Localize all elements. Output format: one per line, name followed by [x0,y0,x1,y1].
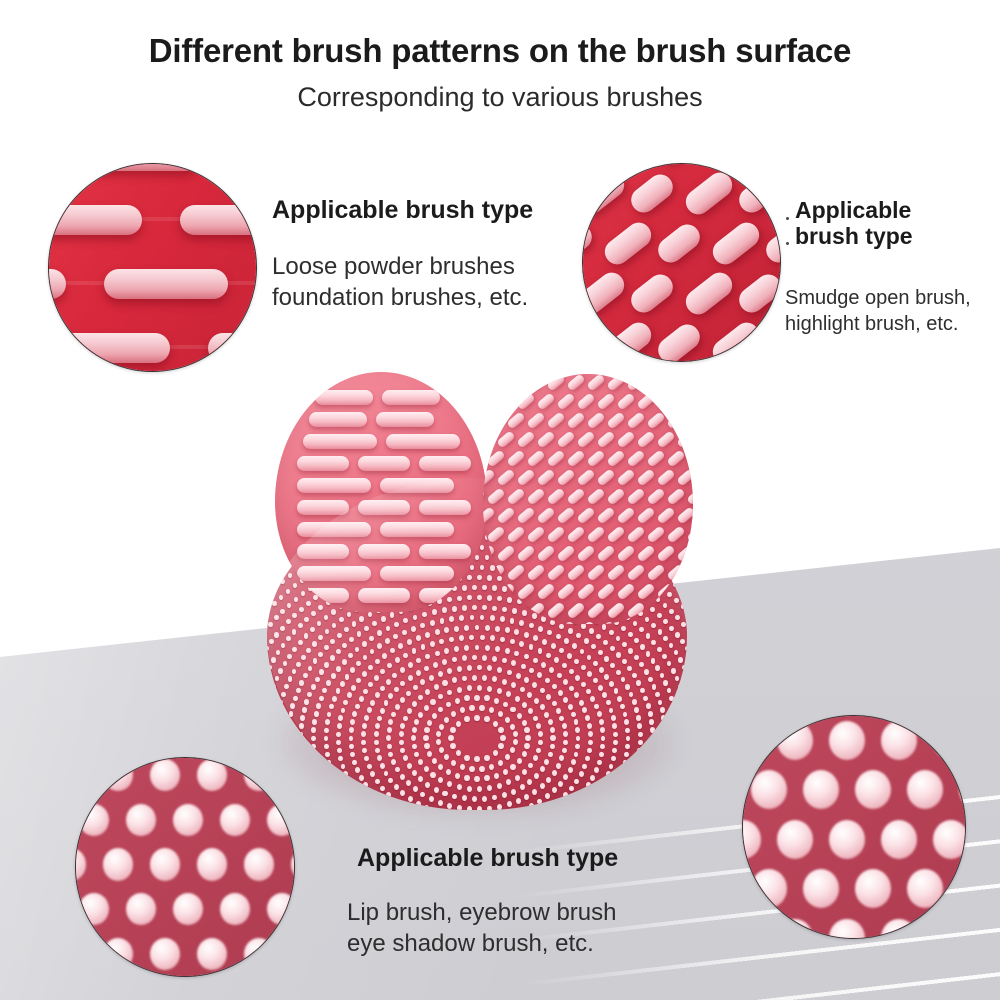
pad-dot [639,627,644,632]
pad-dot [459,615,464,621]
pad-dot [593,661,598,667]
pad-dot [337,723,342,729]
pad-dot [686,672,687,677]
pad-dot [623,760,628,766]
pad-dot [300,715,305,720]
pad-dot [646,703,651,708]
pad-dot [311,744,316,750]
pad-dot [646,633,651,638]
pad-dot [416,801,421,807]
pad-dot [652,787,657,792]
pad-dash [576,430,596,448]
pad-dot [628,648,633,653]
texture-capsule [707,317,763,362]
pad-dot [537,672,542,678]
pad-dot [524,794,529,800]
pad-dot [675,744,680,749]
pad-dot [384,700,389,706]
pad-dot [581,665,586,671]
pad-dot [511,682,516,688]
pad-dot [289,711,294,716]
pad-dot [319,776,324,782]
pad-dot [534,698,539,704]
pad-dot [368,806,373,810]
pad-dot [380,786,385,792]
pad-dot [469,766,474,772]
texture-dot [751,770,787,809]
pad-dot [380,686,385,692]
pad-dot [462,655,467,661]
pad-dash [483,468,496,486]
pad-dash [496,430,516,448]
pad-dot [489,707,494,713]
pad-dot [652,684,657,689]
texture-dot [150,759,180,791]
pad-dash [546,487,566,505]
pad-dot [621,677,626,683]
pad-dot [287,752,292,757]
pad-dot [675,752,680,757]
texture-dot [197,759,227,791]
pad-dot [648,711,653,716]
pad-dot [413,786,418,792]
pad-dot [669,626,674,631]
pad-dot [438,777,443,783]
pad-dot [528,763,533,769]
pad-dot [524,743,529,749]
pad-dash [516,392,536,410]
pad-dash [656,506,676,524]
pad-dot [340,681,345,687]
magnifier-circle-round-dots-left [75,757,295,977]
texture-dot [103,938,133,970]
pad-dot [498,760,503,766]
pad-dot [579,700,584,706]
pad-dash [616,582,636,600]
pad-dot [571,712,576,718]
pad-dot [296,662,301,667]
pad-dot [350,667,355,673]
pad-dot [599,752,604,758]
pad-dot [660,673,665,678]
pad-dot [556,763,561,769]
pad-dot [604,656,609,662]
pad-bar [419,456,471,471]
pad-dot [319,696,324,702]
texture-capsule [761,219,781,267]
pad-dot [385,638,390,644]
pad-bar [376,412,434,427]
texture-capsule [761,319,781,362]
pad-dot [550,735,555,741]
pad-dot [562,808,567,810]
pad-dot [516,798,521,804]
pad-dot [356,661,361,667]
callout-tick-icon-lower [786,242,789,245]
pad-dot [546,653,551,659]
pad-dot [540,783,545,789]
pad-dot [447,781,452,787]
texture-bar [180,205,257,235]
pad-dot [507,801,512,807]
pad-dot [403,755,408,761]
pad-dot [599,804,604,810]
pad-dot [267,665,272,670]
pad-dot [411,626,416,632]
pad-bar [297,522,371,537]
pad-dot [407,708,412,714]
pad-dot [286,744,291,749]
pad-dash [606,563,626,581]
pad-dot [482,796,487,802]
pad-dot [657,647,662,652]
pad-dash [566,411,586,429]
pad-dash [566,525,586,543]
pad-dot [311,611,316,616]
pad-dot [502,792,507,798]
pad-dot [634,638,639,643]
pad-dot [611,715,616,721]
pad-dot [311,736,316,742]
pad-dash [556,430,576,448]
pad-dot [329,767,334,773]
pad-dot [374,675,379,681]
pad-dot [292,629,297,634]
pad-dot [270,546,274,551]
pad-dot [448,735,453,741]
pad-dot [325,719,330,725]
texture-capsule [582,219,596,267]
pad-dot [430,620,435,626]
pad-dot [363,655,368,661]
pad-dot [638,740,643,746]
pad-dot [629,692,634,698]
texture-dot [79,804,109,836]
pad-dot [311,684,316,689]
pad-dot [392,798,397,804]
pad-dot [336,688,341,694]
pad-dot [540,766,545,772]
pad-dot [464,775,469,781]
pad-dash [606,374,626,392]
texture-bar [48,269,66,299]
pad-dot [336,666,341,672]
pad-dot [655,665,660,670]
texture-dot [197,848,227,880]
pad-dot [332,775,337,781]
pad-dash [686,525,693,543]
pad-dot [510,747,515,753]
pad-zone-left-ear [275,372,487,612]
pad-dot [454,626,459,632]
pad-dot [286,619,291,624]
pad-dot [267,646,269,651]
pad-dot [507,597,512,602]
pad-dot [658,629,663,634]
pad-dot [629,779,634,785]
pad-dot [442,607,447,613]
pad-dot [298,623,303,628]
pad-dot [290,703,295,708]
texture-dot [75,938,86,970]
pad-dot [447,803,452,809]
pad-dot [575,744,580,750]
pad-dot [299,740,304,745]
pad-dash [636,544,656,562]
infographic-canvas: Different brush patterns on the brush su… [0,0,1000,1000]
pad-dot [606,771,611,777]
pad-dot [280,626,285,631]
pad-dot [319,669,324,674]
pad-dot [650,727,655,732]
pad-dot [648,760,653,765]
pad-dot [432,609,437,615]
pad-dot [548,719,553,725]
pad-dot [660,707,665,712]
pad-dot [440,618,445,624]
pad-dot [632,772,637,778]
pad-dot [637,748,642,754]
pad-dot [439,639,444,645]
pad-dot [522,720,527,726]
pad-dot [494,773,499,779]
pad-dot [475,645,480,651]
callout-body-line-2: foundation brushes, etc. [272,283,528,314]
pad-dot [304,633,309,638]
texture-dot [829,919,865,939]
pad-dot [268,691,273,696]
pad-dot [308,666,313,671]
pad-dot [464,695,469,701]
texture-capsule [707,217,763,269]
pad-dot [593,678,598,684]
pad-dot [399,740,404,746]
pad-dot [307,692,312,697]
pad-dash [686,374,693,392]
pad-dot [627,666,632,671]
pad-dot [287,603,292,608]
pad-dash [616,544,636,562]
pad-dot [407,763,412,769]
pad-dot [569,686,574,692]
pad-dot [625,787,630,793]
pad-dot [368,789,373,795]
pad-dot [616,802,621,808]
pad-dot [275,715,280,720]
pad-dash [636,582,656,600]
pad-dot [663,680,668,685]
pad-dot [467,806,472,810]
pad-dot [599,719,604,725]
pad-dot [369,636,374,642]
pad-dot [462,795,467,801]
pad-dot [673,760,678,765]
pad-dash [616,468,636,486]
pad-dot [302,764,307,769]
pad-dot [444,754,449,760]
texture-capsule [761,163,781,167]
pad-dot [451,711,456,717]
pad-dot [315,677,320,682]
texture-dot [244,938,274,970]
pad-dot [274,615,279,620]
pad-dot [658,700,663,705]
pad-dot [660,799,665,804]
pad-dot [649,752,654,757]
pad-dash [666,374,686,392]
pad-dot [454,646,459,652]
texture-dot [244,848,274,880]
pad-dot [362,641,367,647]
pad-dot [510,707,515,713]
pad-dot [420,792,425,798]
pad-dot [370,771,375,777]
pad-dot [380,708,385,714]
pad-dot [643,696,648,701]
pad-dot [585,715,590,721]
pad-dot [342,659,347,665]
pad-dash [596,544,616,562]
pad-dot [585,756,590,762]
pad-dot [460,707,465,713]
pad-dash [646,449,666,467]
pad-dot [418,712,423,718]
pad-dash [556,506,576,524]
pad-dot [400,804,405,810]
pad-dot [513,739,518,745]
pad-dot [447,690,452,696]
pad-dot [533,755,538,761]
pad-dot [487,686,492,692]
pad-dot [586,782,591,788]
pad-dash [546,601,566,619]
pad-dot [505,717,510,723]
pad-dot [534,773,539,779]
pad-dash [596,392,616,410]
texture-bar [48,333,170,363]
pad-dot [331,673,336,679]
pad-dot [575,675,580,681]
pad-dot [387,663,392,669]
pad-dot [447,668,452,674]
pad-dot [485,625,490,631]
pad-dash [626,449,646,467]
pad-dot [275,569,279,574]
pad-dash [526,411,546,429]
pad-dot [420,679,425,685]
texture-bar [104,269,228,299]
pad-dot [368,665,373,671]
pad-dot [643,776,648,781]
pad-bar [419,500,471,515]
pad-dot [302,707,307,712]
pad-dot [433,662,438,668]
pad-dot [558,690,563,696]
pad-dot [464,645,469,651]
pad-dash [586,487,606,505]
pad-dot [361,731,366,737]
pad-bar [382,390,440,405]
texture-bar [48,205,142,235]
pad-dot [412,744,417,750]
pad-dot [474,756,479,762]
pad-dash [656,544,676,562]
pad-dot [599,667,604,673]
pad-dash [636,392,656,410]
pad-dash [506,563,526,581]
pad-dot [403,618,408,624]
pad-dot [424,743,429,749]
pad-dash [546,411,566,429]
pad-dash [676,392,693,410]
pad-dot [350,804,355,810]
pad-dot [355,647,360,653]
pad-dot [364,715,369,721]
pad-dot [362,671,367,677]
texture-dot [777,919,813,939]
pad-dot [529,644,534,650]
pad-dot [324,728,329,734]
pad-dot [343,700,348,706]
pad-dot [497,688,502,694]
pad-dot [584,638,589,644]
texture-dot [959,869,966,908]
pad-dot [477,575,482,580]
pad-dot [303,673,308,678]
pad-dot [685,707,687,712]
pad-dot [395,657,400,663]
pad-dot [286,736,291,741]
pad-dot [651,736,656,741]
pad-bar [358,456,410,471]
texture-dot [907,770,943,809]
pad-dot [524,654,529,660]
pad-dot [485,645,490,651]
pad-dash [576,582,596,600]
pad-dot [482,655,487,661]
pad-dot [299,680,304,685]
pad-dot [341,708,346,714]
pad-dot [602,692,607,698]
pad-dash [626,374,646,392]
pad-dot [484,716,489,722]
pad-dot [613,740,618,746]
pad-dot [477,685,482,691]
pad-dot [324,809,329,810]
pad-dot [326,680,331,686]
pad-dot [556,708,561,714]
pad-dot [686,799,687,804]
pad-dot [274,740,279,745]
pad-dot [636,680,641,685]
texture-dot [244,759,274,791]
pad-dot [464,755,469,761]
pad-dot [422,612,427,618]
pad-dot [554,657,559,663]
pad-dot [541,662,546,668]
pad-dot [324,615,329,620]
pad-dot [487,785,492,791]
pad-dot [550,744,555,750]
pad-dash [566,563,586,581]
pad-dot [472,655,477,661]
pad-dot [406,691,411,697]
pad-dot [502,658,507,664]
pad-dot [352,760,357,766]
pad-dot [646,768,651,773]
pad-dot [362,800,367,806]
texture-bar [208,333,257,363]
